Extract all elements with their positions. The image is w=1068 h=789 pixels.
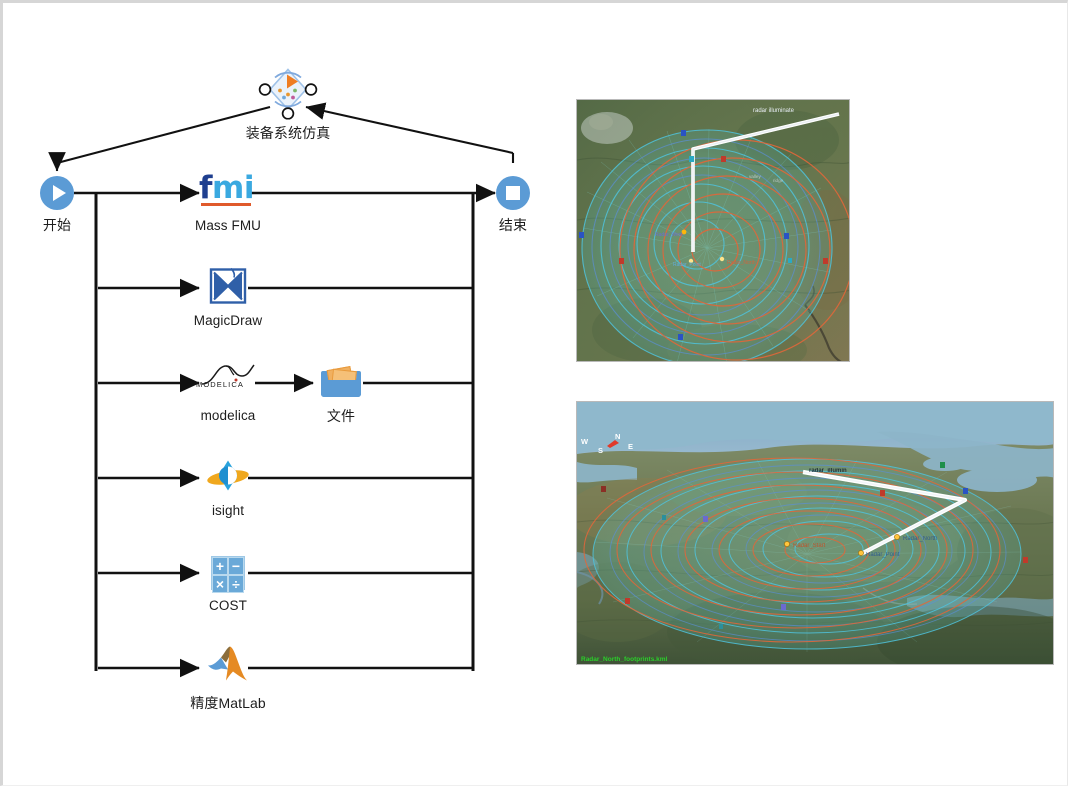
- svg-text:W: W: [581, 437, 589, 446]
- stop-circle-icon: [496, 176, 530, 210]
- map-top-track-label: radar illuminate: [753, 108, 795, 114]
- step-label-magicdraw: MagicDraw: [194, 313, 262, 328]
- play-circle-icon: [40, 176, 74, 210]
- svg-text:Radar_North: Radar_North: [903, 536, 937, 542]
- svg-text:Radar_Point: Radar_Point: [673, 262, 701, 268]
- fmi-logo-icon[interactable]: fmi: [199, 173, 255, 207]
- page-canvas: 装备系统仿真 开始 结束 fmi Mass FMU: [0, 0, 1068, 786]
- svg-text:N: N: [615, 432, 620, 441]
- step-label-isight: isight: [212, 503, 244, 518]
- fmi-letter-f: f: [199, 170, 212, 206]
- svg-text:Radar_North: Radar_North: [727, 260, 756, 266]
- magicdraw-logo-icon[interactable]: [209, 267, 247, 310]
- svg-text:radar_illumin: radar_illumin: [809, 468, 847, 474]
- system-simulation-label: 装备系统仿真: [246, 123, 331, 143]
- map-bottom-watermark: Radar_North_footprints.kml: [581, 656, 668, 663]
- svg-text:ridge: ridge: [773, 178, 784, 183]
- end-node[interactable]: [496, 176, 530, 210]
- fmi-letter-m: m: [212, 170, 244, 206]
- svg-text:E: E: [628, 442, 633, 451]
- calculator-icon[interactable]: + − × ÷: [211, 556, 245, 590]
- step-label-cost: COST: [209, 598, 247, 613]
- svg-text:Radar_Start: Radar_Start: [793, 543, 826, 549]
- calc-key-times: ×: [212, 575, 228, 593]
- svg-text:valley: valley: [749, 174, 761, 179]
- matlab-logo-icon[interactable]: [206, 645, 250, 690]
- fmi-letter-i: i: [244, 170, 254, 206]
- radar-coverage-map-perspective[interactable]: W N S E radar_illumin Radar_Start Radar_…: [576, 401, 1054, 665]
- modelica-wordmark: MODELICA: [196, 380, 244, 389]
- fmi-underline: [201, 203, 251, 206]
- calc-key-plus: +: [212, 557, 228, 575]
- step-label-matlab: 精度MatLab: [190, 693, 266, 713]
- radar-coverage-map-top-down[interactable]: radar illuminate Radar_West Radar_Point …: [576, 99, 850, 362]
- step-label-mass-fmu: Mass FMU: [195, 218, 261, 233]
- end-node-label: 结束: [499, 215, 527, 235]
- start-node[interactable]: [40, 176, 74, 210]
- start-node-label: 开始: [43, 215, 71, 235]
- workflow-diagram: 装备系统仿真 开始 结束 fmi Mass FMU: [3, 3, 563, 789]
- svg-text:Radar_West: Radar_West: [655, 232, 683, 238]
- step-label-modelica: modelica: [201, 408, 256, 423]
- svg-text:S: S: [598, 446, 603, 455]
- folder-icon[interactable]: [321, 365, 361, 399]
- step-label-file: 文件: [327, 406, 355, 426]
- calc-key-divide: ÷: [228, 575, 244, 593]
- modelica-logo-icon[interactable]: MODELICA: [196, 364, 258, 398]
- calc-key-minus: −: [228, 557, 244, 575]
- isight-logo-icon[interactable]: [205, 459, 251, 498]
- system-simulation-icon[interactable]: [257, 64, 319, 125]
- svg-text:Radar_Point: Radar_Point: [866, 552, 900, 558]
